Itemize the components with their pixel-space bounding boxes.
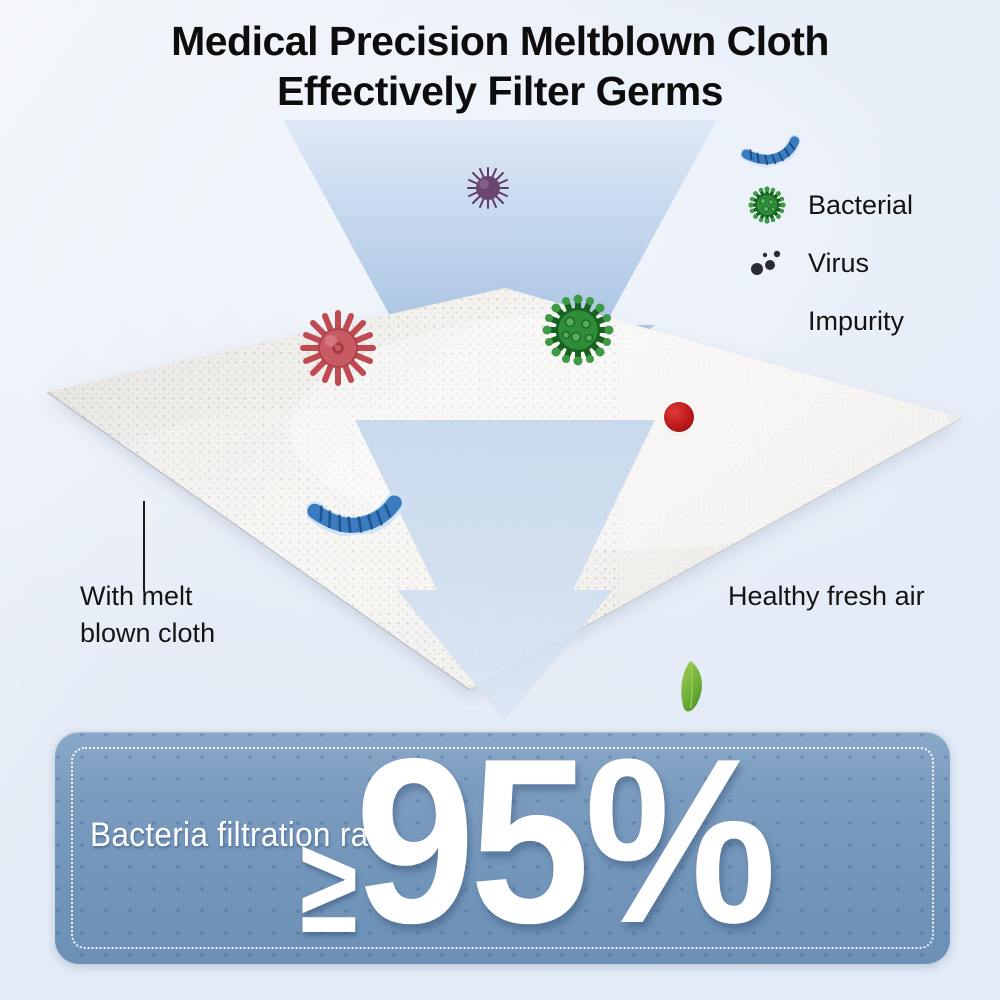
downward-arrow-lower-icon <box>345 420 665 750</box>
infographic-canvas: Medical Precision Meltblown Cloth Effect… <box>0 0 1000 1000</box>
dark-dots-icon <box>744 240 790 286</box>
legend-label-impurity: Impurity <box>808 306 904 337</box>
legend-item-bacterial: Bacterial <box>744 182 913 228</box>
cloth-callout-line-1: With melt <box>80 578 310 615</box>
green-virus-icon <box>744 182 790 228</box>
purple-virus-particle-icon <box>462 162 514 214</box>
impurity-swatch-placeholder <box>744 298 790 344</box>
red-impurity-dot-icon <box>664 402 694 432</box>
legend-label-virus: Virus <box>808 248 869 279</box>
banner-operator: ≥ <box>300 836 358 936</box>
filtration-rate-banner: Bacteria filtration rate ≥ 95% <box>55 732 950 964</box>
banner-value: 95% <box>355 732 771 958</box>
red-virus-particle-icon <box>292 302 384 394</box>
cloth-callout-line-2: blown cloth <box>80 615 310 652</box>
legend-item-virus: Virus <box>744 240 869 286</box>
green-virus-particle-icon <box>534 286 622 374</box>
blue-rod-bacteria-icon <box>305 482 405 540</box>
page-title: Medical Precision Meltblown Cloth Effect… <box>0 16 1000 116</box>
title-line-1: Medical Precision Meltblown Cloth <box>0 16 1000 66</box>
healthy-air-callout: Healthy fresh air <box>728 578 925 615</box>
cloth-callout: With melt blown cloth <box>80 578 310 652</box>
title-line-2: Effectively Filter Germs <box>0 66 1000 116</box>
legend-icon-blue-rod-bacteria <box>737 127 805 173</box>
legend-label-bacterial: Bacterial <box>808 190 913 221</box>
legend: Bacterial Virus Impurity <box>730 130 995 345</box>
legend-item-impurity: Impurity <box>744 298 904 344</box>
